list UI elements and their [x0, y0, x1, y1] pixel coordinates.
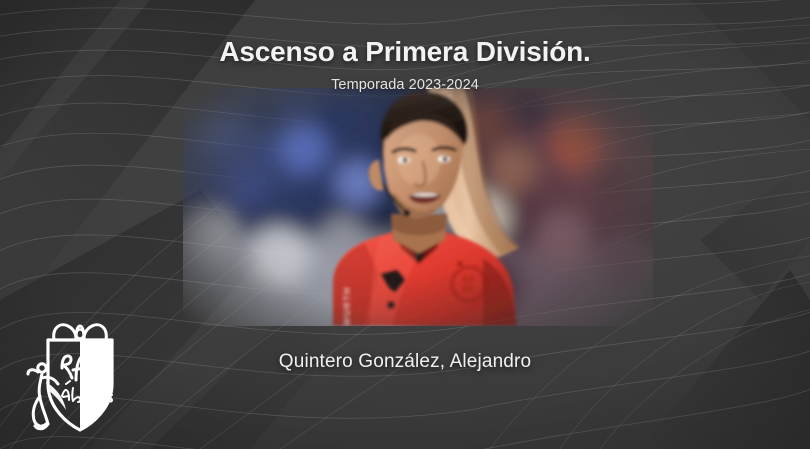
svg-text:EF: EF [464, 286, 475, 293]
page-title: Ascenso a Primera División. [0, 36, 810, 68]
referee-photo: RF EF WURTH [183, 88, 653, 326]
rfaf-arbitros-crest-icon [18, 312, 122, 434]
page-title-period: . [583, 36, 591, 67]
referee-photo-image: RF EF WURTH [183, 88, 653, 326]
season-subtitle: Temporada 2023-2024 [0, 77, 810, 93]
svg-text:RF: RF [463, 277, 474, 284]
page-title-text: Ascenso a Primera División [219, 36, 583, 67]
ascenso-banner-card: RF EF WURTH [0, 0, 810, 449]
svg-text:WURTH: WURTH [342, 287, 352, 327]
